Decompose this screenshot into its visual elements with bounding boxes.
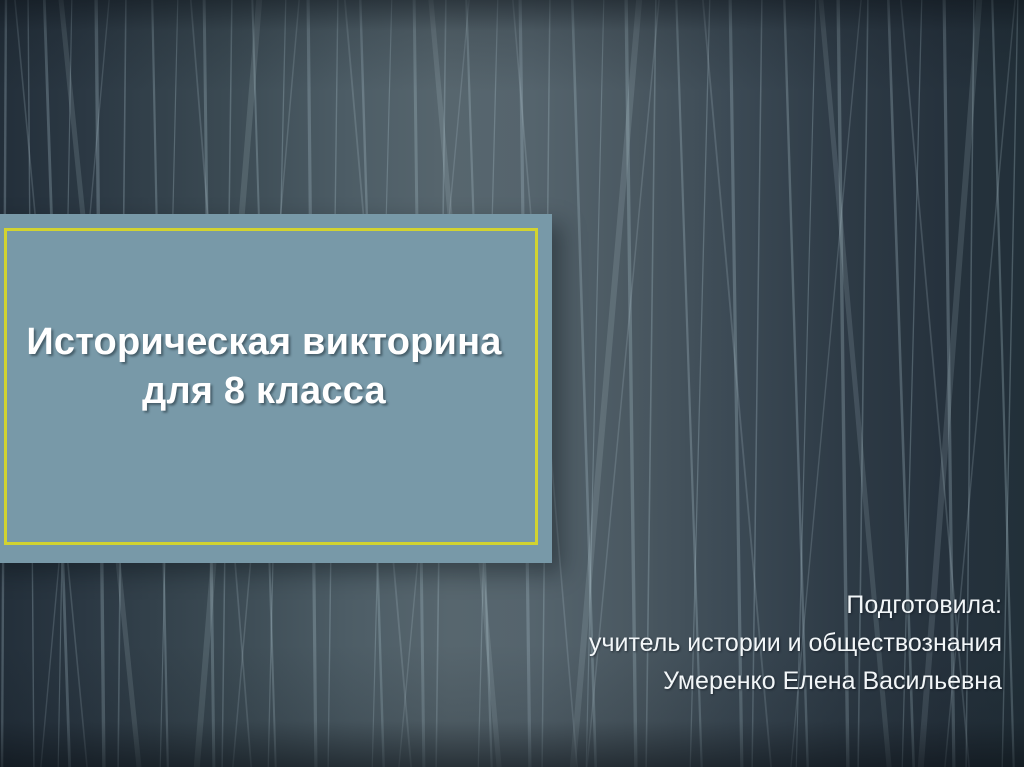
author-block: Подготовила: учитель истории и обществоз… — [589, 586, 1002, 700]
page-title: Историческая викторина для 8 класса — [0, 318, 528, 417]
author-name: Умеренко Елена Васильевна — [589, 662, 1002, 700]
presentation-slide: Историческая викторина для 8 класса Подг… — [0, 0, 1024, 767]
author-role: учитель истории и обществознания — [589, 624, 1002, 662]
title-box: Историческая викторина для 8 класса — [0, 214, 552, 563]
author-prepared-by-label: Подготовила: — [589, 586, 1002, 624]
